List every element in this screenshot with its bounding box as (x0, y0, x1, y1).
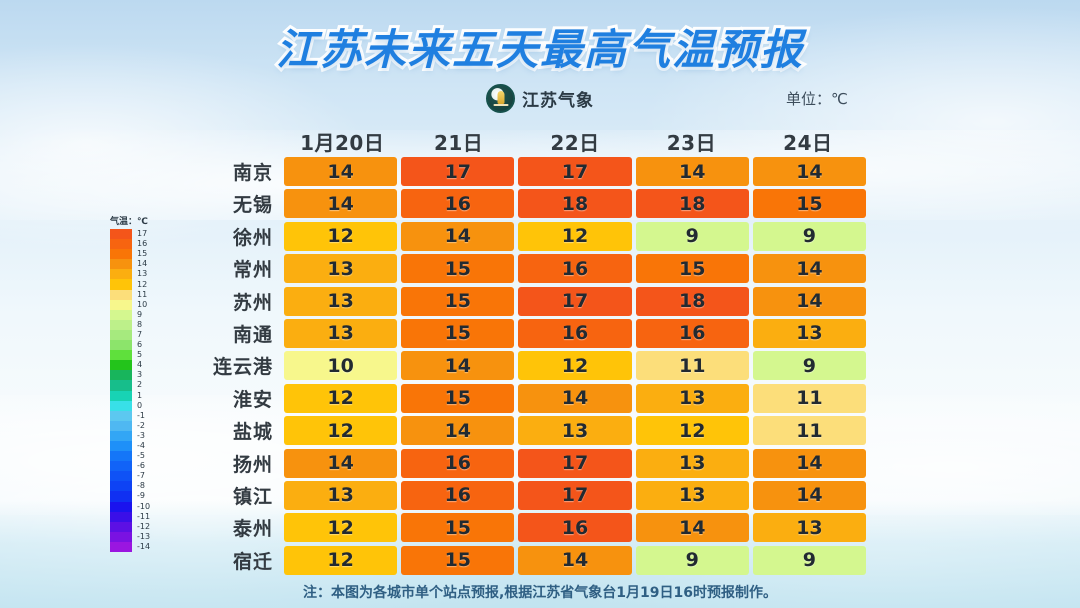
temperature-cell: 17 (401, 157, 514, 186)
legend-swatch (110, 502, 132, 512)
legend-row: -12 (110, 522, 164, 532)
legend-row: 3 (110, 370, 164, 380)
temperature-cell: 12 (284, 222, 397, 251)
temperature-cell-group: 1315161514 (284, 254, 866, 283)
legend-label: -14 (137, 542, 150, 552)
legend-label: -3 (137, 431, 145, 441)
brand-logo-label: 江苏气象 (522, 86, 594, 111)
temperature-cell: 16 (401, 481, 514, 510)
temperature-cell: 15 (401, 254, 514, 283)
legend-swatch (110, 340, 132, 350)
legend-swatch (110, 380, 132, 390)
legend-row: 10 (110, 300, 164, 310)
temperature-cell: 12 (284, 513, 397, 542)
legend-label: 10 (137, 300, 147, 310)
legend-swatch (110, 491, 132, 501)
legend-label: -13 (137, 532, 150, 542)
temperature-cell: 16 (636, 319, 749, 348)
temperature-cell: 12 (518, 222, 631, 251)
table-row: 盐城1214131211 (186, 415, 866, 446)
temperature-cell: 14 (284, 157, 397, 186)
legend-label: 16 (137, 239, 147, 249)
legend-label: 5 (137, 350, 142, 360)
temperature-cell: 14 (401, 416, 514, 445)
row-header-city: 常州 (186, 255, 284, 282)
legend-row: 11 (110, 290, 164, 300)
row-header-city: 宿迁 (186, 547, 284, 574)
legend-swatch (110, 310, 132, 320)
column-header-day: 21日 (400, 127, 516, 156)
legend-title: 气温：℃ (110, 214, 164, 227)
legend-label: 11 (137, 290, 147, 300)
legend-label: 12 (137, 280, 147, 290)
legend-row: -13 (110, 532, 164, 542)
temperature-cell: 17 (518, 157, 631, 186)
legend-label: 1 (137, 391, 142, 401)
legend-label: 4 (137, 360, 142, 370)
legend-label: 15 (137, 249, 147, 259)
temperature-cell: 14 (753, 481, 866, 510)
legend-swatch (110, 401, 132, 411)
legend-swatch (110, 421, 132, 431)
legend-label: 3 (137, 370, 142, 380)
legend-label: -11 (137, 512, 150, 522)
row-header-city: 镇江 (186, 482, 284, 509)
row-header-city: 南通 (186, 320, 284, 347)
row-header-city: 南京 (186, 158, 284, 185)
day-header-group: 1月20日21日22日23日24日 (284, 127, 866, 156)
legend-swatch (110, 532, 132, 542)
legend-label: 14 (137, 259, 147, 269)
temperature-cell-group: 1416181815 (284, 189, 866, 218)
temperature-cell: 15 (401, 384, 514, 413)
temperature-cell-group: 1315161613 (284, 319, 866, 348)
legend-row: 15 (110, 249, 164, 259)
temperature-cell: 17 (518, 481, 631, 510)
temperature-cell: 16 (401, 449, 514, 478)
row-header-city: 徐州 (186, 223, 284, 250)
brand-logo: 江苏气象 (0, 84, 1080, 113)
temperature-cell-group: 1417171414 (284, 157, 866, 186)
legend-swatch (110, 431, 132, 441)
temperature-cell: 9 (636, 546, 749, 575)
legend-row: -9 (110, 491, 164, 501)
legend-swatch (110, 279, 132, 289)
legend-swatch (110, 360, 132, 370)
temperature-cell: 14 (636, 157, 749, 186)
row-header-city: 泰州 (186, 514, 284, 541)
legend-label: 2 (137, 380, 142, 390)
table-body: 南京1417171414无锡1416181815徐州12141299常州1315… (186, 156, 866, 576)
legend-swatch (110, 249, 132, 259)
legend-swatch (110, 441, 132, 451)
temperature-cell: 14 (753, 287, 866, 316)
legend-row: -14 (110, 542, 164, 552)
legend-label: 13 (137, 269, 147, 279)
temperature-cell: 9 (753, 351, 866, 380)
legend-label: -8 (137, 481, 145, 491)
temperature-cell: 18 (636, 287, 749, 316)
legend-swatch (110, 259, 132, 269)
column-header-day: 24日 (750, 127, 866, 156)
legend-swatch (110, 330, 132, 340)
temperature-cell: 14 (284, 449, 397, 478)
legend-label: -2 (137, 421, 145, 431)
temperature-cell: 14 (284, 189, 397, 218)
legend-row: -2 (110, 421, 164, 431)
temperature-cell-group: 1214131211 (284, 416, 866, 445)
table-row: 镇江1316171314 (186, 480, 866, 511)
temperature-cell: 11 (753, 384, 866, 413)
legend-swatch (110, 290, 132, 300)
table-row: 徐州12141299 (186, 221, 866, 252)
temperature-cell: 12 (284, 546, 397, 575)
table-row: 常州1315161514 (186, 253, 866, 284)
temperature-cell: 17 (518, 287, 631, 316)
legend-swatch (110, 391, 132, 401)
temperature-cell: 16 (518, 513, 631, 542)
table-row: 连云港101412119 (186, 350, 866, 381)
temperature-cell: 9 (636, 222, 749, 251)
legend-label: -5 (137, 451, 145, 461)
legend-label: 9 (137, 310, 142, 320)
legend-row: 8 (110, 320, 164, 330)
legend-row: 0 (110, 401, 164, 411)
legend-row: -4 (110, 441, 164, 451)
temperature-cell-group: 1215141311 (284, 384, 866, 413)
temperature-cell: 16 (401, 189, 514, 218)
legend-swatch (110, 512, 132, 522)
temperature-cell: 13 (284, 481, 397, 510)
legend-swatch (110, 320, 132, 330)
legend-row: 4 (110, 360, 164, 370)
temperature-cell: 14 (518, 546, 631, 575)
temperature-cell: 12 (284, 416, 397, 445)
legend-row: -7 (110, 471, 164, 481)
legend-label: -4 (137, 441, 145, 451)
legend-row: 13 (110, 269, 164, 279)
temperature-cell-group: 1215161413 (284, 513, 866, 542)
legend-row: 16 (110, 239, 164, 249)
table-row: 宿迁12151499 (186, 545, 866, 576)
legend-swatch (110, 542, 132, 552)
temperature-cell: 13 (636, 449, 749, 478)
temperature-cell: 12 (284, 384, 397, 413)
legend-label: 7 (137, 330, 142, 340)
legend-row: 12 (110, 279, 164, 289)
legend-swatch (110, 300, 132, 310)
legend-row: 17 (110, 229, 164, 239)
legend-label: 8 (137, 320, 142, 330)
legend-label: -12 (137, 522, 150, 532)
legend-row: -1 (110, 411, 164, 421)
legend-row: 14 (110, 259, 164, 269)
column-header-day: 1月20日 (284, 127, 400, 156)
legend-row: 7 (110, 330, 164, 340)
legend-swatch (110, 451, 132, 461)
legend-swatch (110, 411, 132, 421)
table-row: 无锡1416181815 (186, 188, 866, 219)
legend-label: -1 (137, 411, 145, 421)
legend-row: 9 (110, 310, 164, 320)
legend-scale: 17161514131211109876543210-1-2-3-4-5-6-7… (110, 229, 164, 552)
temperature-cell: 12 (636, 416, 749, 445)
temperature-cell: 18 (518, 189, 631, 218)
legend-label: 17 (137, 229, 147, 239)
temperature-cell: 15 (753, 189, 866, 218)
legend-row: 5 (110, 350, 164, 360)
temperature-cell: 13 (284, 254, 397, 283)
unit-label: 单位：℃ (786, 88, 848, 109)
row-header-city: 无锡 (186, 190, 284, 217)
legend-row: -3 (110, 431, 164, 441)
legend-label: -9 (137, 491, 145, 501)
legend-row: -11 (110, 512, 164, 522)
row-header-city: 扬州 (186, 450, 284, 477)
temperature-cell-group: 1315171814 (284, 287, 866, 316)
legend-row: -6 (110, 461, 164, 471)
temperature-cell: 14 (518, 384, 631, 413)
legend-row: -8 (110, 481, 164, 491)
temperature-cell: 9 (753, 546, 866, 575)
temperature-cell: 13 (636, 481, 749, 510)
temperature-cell: 13 (753, 513, 866, 542)
legend-label: 0 (137, 401, 142, 411)
table-row: 南通1315161613 (186, 318, 866, 349)
table-row: 南京1417171414 (186, 156, 866, 187)
legend-row: -5 (110, 451, 164, 461)
legend-label: -7 (137, 471, 145, 481)
legend-swatch (110, 461, 132, 471)
temperature-cell: 16 (518, 319, 631, 348)
temperature-cell: 15 (636, 254, 749, 283)
temperature-cell: 10 (284, 351, 397, 380)
temperature-cell-group: 12151499 (284, 546, 866, 575)
legend-swatch (110, 229, 132, 239)
table-header-row: 1月20日21日22日23日24日 (186, 122, 866, 156)
legend-swatch (110, 471, 132, 481)
temperature-cell: 11 (753, 416, 866, 445)
temperature-cell: 13 (636, 384, 749, 413)
temperature-cell: 14 (401, 351, 514, 380)
temperature-cell: 15 (401, 513, 514, 542)
temperature-cell: 14 (753, 157, 866, 186)
temperature-legend: 气温：℃ 17161514131211109876543210-1-2-3-4-… (110, 214, 164, 552)
temperature-cell: 15 (401, 319, 514, 348)
temperature-cell: 12 (518, 351, 631, 380)
temperature-cell: 11 (636, 351, 749, 380)
temperature-cell: 17 (518, 449, 631, 478)
temperature-cell: 14 (753, 449, 866, 478)
legend-row: 1 (110, 391, 164, 401)
row-header-city: 连云港 (186, 352, 284, 379)
temperature-cell: 18 (636, 189, 749, 218)
legend-label: -6 (137, 461, 145, 471)
column-header-day: 23日 (633, 127, 749, 156)
forecast-table: 1月20日21日22日23日24日 南京1417171414无锡14161818… (186, 122, 866, 577)
temperature-cell-group: 12141299 (284, 222, 866, 251)
legend-row: 6 (110, 340, 164, 350)
temperature-cell: 14 (401, 222, 514, 251)
legend-swatch (110, 350, 132, 360)
temperature-cell: 15 (401, 287, 514, 316)
temperature-cell: 13 (518, 416, 631, 445)
legend-label: 6 (137, 340, 142, 350)
temperature-cell: 13 (753, 319, 866, 348)
legend-swatch (110, 239, 132, 249)
temperature-cell: 9 (753, 222, 866, 251)
temperature-cell-group: 1316171314 (284, 481, 866, 510)
temperature-cell: 14 (636, 513, 749, 542)
page-title: 江苏未来五天最高气温预报 (0, 16, 1080, 77)
column-header-day: 22日 (517, 127, 633, 156)
legend-label: -10 (137, 502, 150, 512)
row-header-city: 苏州 (186, 288, 284, 315)
temperature-cell: 13 (284, 319, 397, 348)
table-row: 泰州1215161413 (186, 512, 866, 543)
temperature-cell-group: 101412119 (284, 351, 866, 380)
legend-swatch (110, 269, 132, 279)
table-row: 扬州1416171314 (186, 448, 866, 479)
temperature-cell: 13 (284, 287, 397, 316)
temperature-cell: 14 (753, 254, 866, 283)
temperature-cell: 16 (518, 254, 631, 283)
footer-note: 注：本图为各城市单个站点预报,根据江苏省气象台1月19日16时预报制作。 (0, 582, 1080, 602)
temperature-cell: 15 (401, 546, 514, 575)
row-header-city: 盐城 (186, 417, 284, 444)
legend-row: 2 (110, 380, 164, 390)
table-row: 淮安1215141311 (186, 383, 866, 414)
legend-row: -10 (110, 502, 164, 512)
temperature-cell-group: 1416171314 (284, 449, 866, 478)
table-row: 苏州1315171814 (186, 286, 866, 317)
meteorological-emblem-icon (486, 84, 515, 113)
legend-swatch (110, 481, 132, 491)
legend-swatch (110, 370, 132, 380)
row-header-city: 淮安 (186, 385, 284, 412)
legend-swatch (110, 522, 132, 532)
